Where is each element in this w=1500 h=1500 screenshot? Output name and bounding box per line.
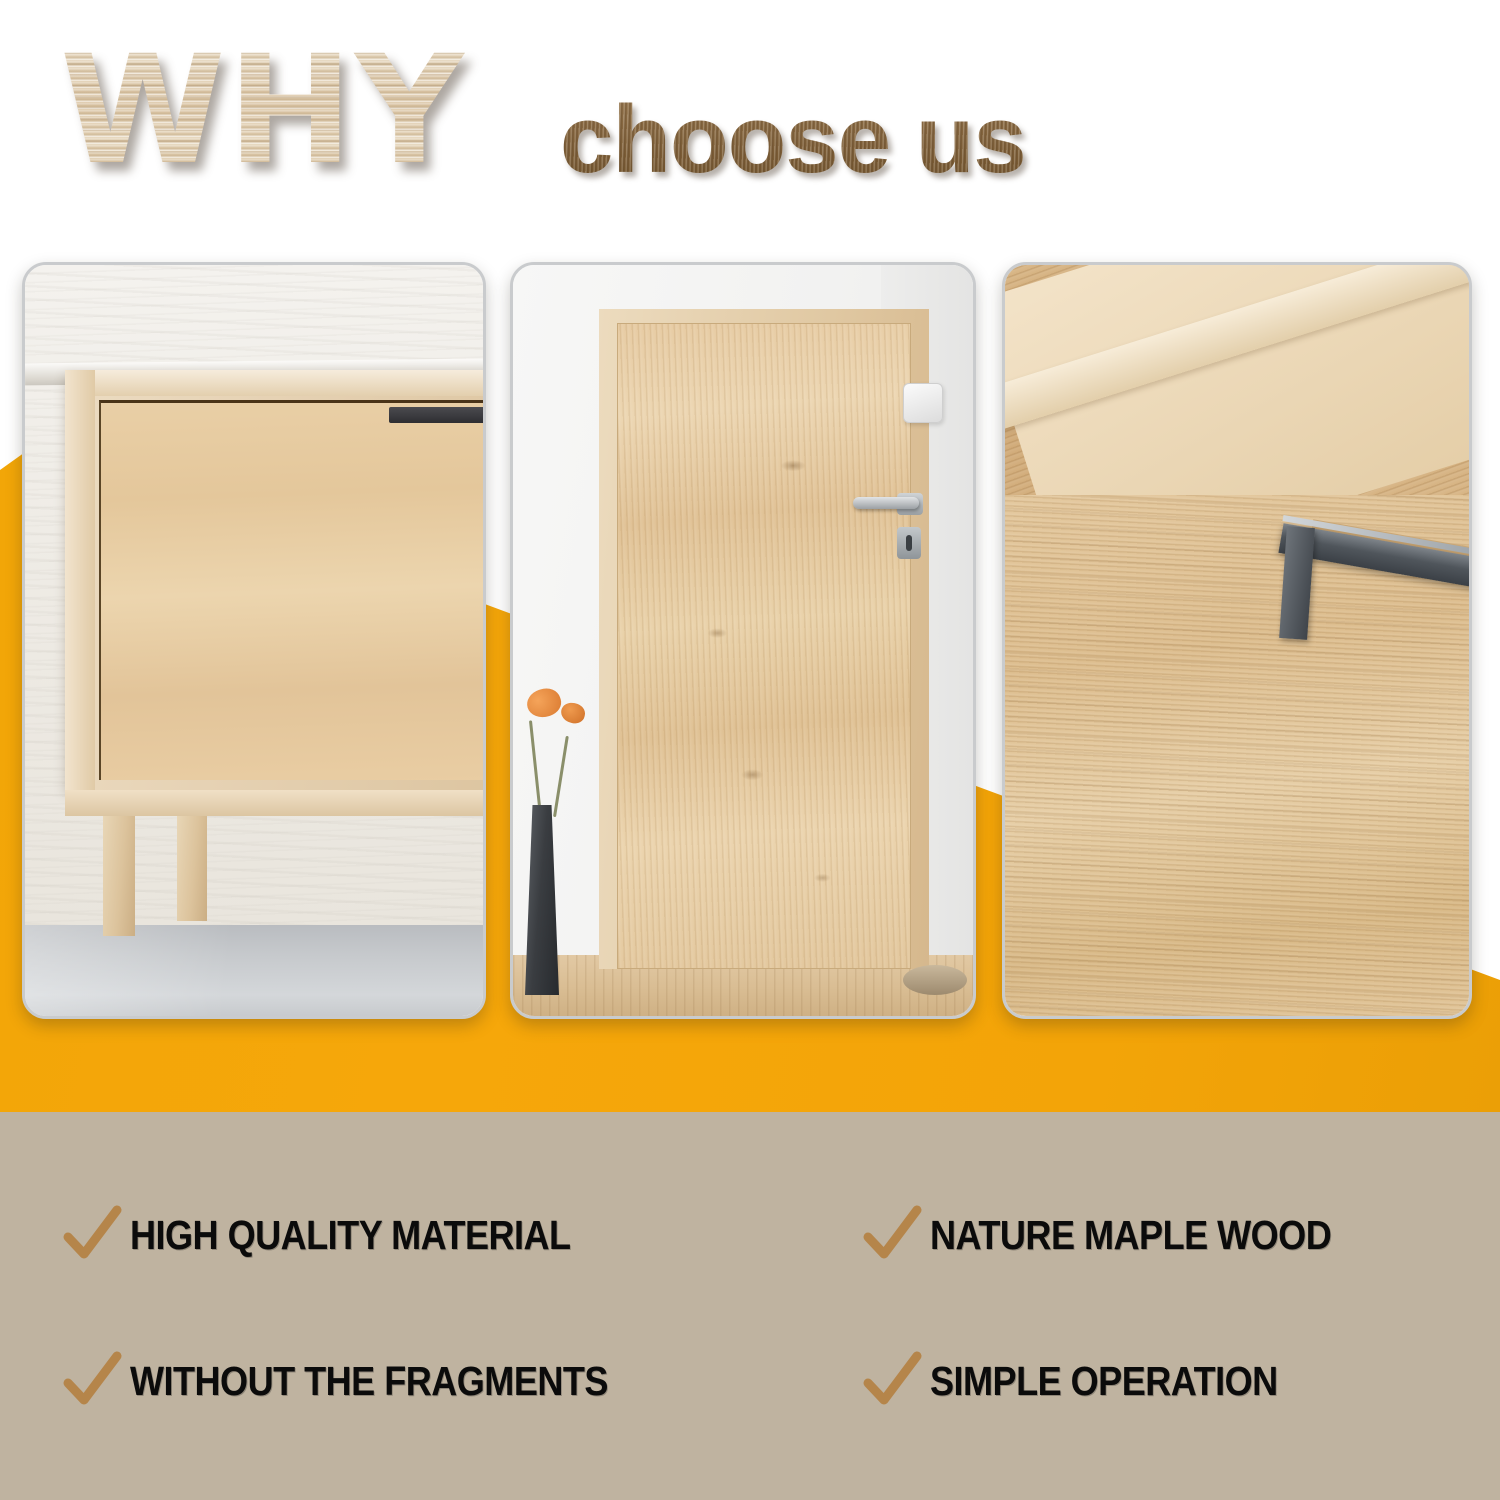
photo-card-wood-cabinet[interactable] <box>22 262 486 1019</box>
door-casing <box>599 309 929 969</box>
floor-stone-decor <box>903 965 967 995</box>
header: WHY choose us <box>0 0 1500 240</box>
cabinet-door-panel <box>99 400 483 780</box>
door-lock-cylinder <box>897 527 921 559</box>
door-lever-handle <box>853 497 919 509</box>
photo-card-oak-door[interactable] <box>510 262 976 1019</box>
photo-card-drawer-handle[interactable] <box>1002 262 1472 1019</box>
cabinet <box>65 370 483 930</box>
page-title-primary: WHY <box>60 36 466 186</box>
concrete-floor <box>25 925 483 1016</box>
light-switch <box>903 383 943 423</box>
cabinet-leg <box>103 816 135 936</box>
black-bar-handle <box>389 407 483 423</box>
oak-door-panel <box>617 323 911 969</box>
cabinet-base-rail <box>65 790 483 816</box>
drawer-closeup-scene <box>1005 265 1469 1016</box>
page-title-secondary: choose us <box>560 92 1026 188</box>
cabinet-frame-top <box>65 370 483 396</box>
door-scene <box>513 265 973 1016</box>
cabinet-leg <box>177 816 207 921</box>
cabinet-scene <box>25 265 483 1016</box>
cabinet-frame-left <box>65 370 95 790</box>
cabinet-frame <box>65 370 483 790</box>
